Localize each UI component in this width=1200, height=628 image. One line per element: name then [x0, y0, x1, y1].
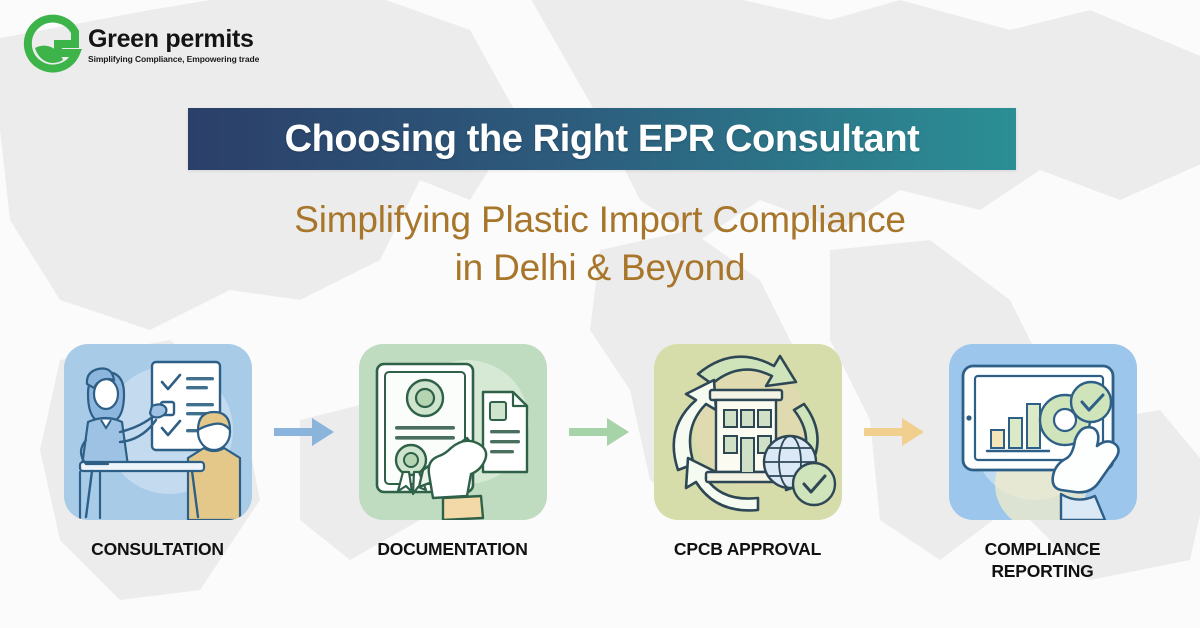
- process-step-documentation[interactable]: DOCUMENTATION: [355, 344, 550, 560]
- step-label: COMPLIANCE REPORTING: [985, 538, 1101, 582]
- title-banner: Choosing the Right EPR Consultant: [188, 108, 1016, 170]
- brand-tagline: Simplifying Compliance, Empowering trade: [88, 54, 259, 64]
- certificate-signing-icon: [359, 344, 547, 520]
- banner-title: Choosing the Right EPR Consultant: [285, 118, 920, 161]
- process-steps: CONSULTATION: [0, 344, 1200, 584]
- arrow-right-icon: [845, 344, 945, 520]
- arrow-right-icon: [255, 344, 355, 520]
- green-g-leaf-logo-icon: [18, 12, 84, 78]
- brand-logo[interactable]: Green permits Simplifying Compliance, Em…: [18, 12, 259, 78]
- infographic-canvas: Green permits Simplifying Compliance, Em…: [0, 0, 1200, 628]
- subtitle: Simplifying Plastic Import Compliance in…: [0, 196, 1200, 292]
- step-label: CONSULTATION: [91, 538, 224, 560]
- process-step-compliance-reporting[interactable]: COMPLIANCE REPORTING: [945, 344, 1140, 582]
- step-label: DOCUMENTATION: [377, 538, 527, 560]
- consultation-meeting-icon: [64, 344, 252, 520]
- subtitle-line-2: in Delhi & Beyond: [0, 244, 1200, 292]
- tablet-analytics-check-icon: [949, 344, 1137, 520]
- arrow-right-icon: [550, 344, 650, 520]
- process-step-consultation[interactable]: CONSULTATION: [60, 344, 255, 560]
- subtitle-line-1: Simplifying Plastic Import Compliance: [294, 199, 906, 240]
- government-recycle-globe-icon: [654, 344, 842, 520]
- step-label: CPCB APPROVAL: [674, 538, 821, 560]
- brand-name: Green permits: [88, 26, 259, 52]
- process-step-cpcb-approval[interactable]: CPCB APPROVAL: [650, 344, 845, 560]
